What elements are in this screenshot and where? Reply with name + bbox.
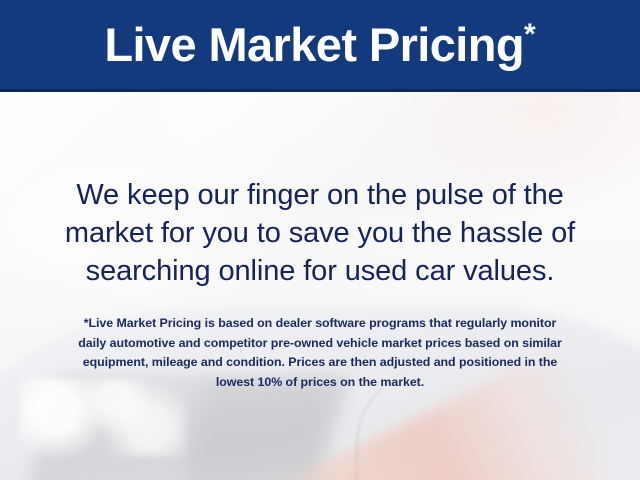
disclaimer-line-4: lowest 10% of prices on the market.	[26, 373, 614, 393]
disclaimer-line-2: daily automotive and competitor pre-owne…	[26, 334, 614, 354]
content-area: We keep our finger on the pulse of the m…	[0, 92, 640, 480]
headline: We keep our finger on the pulse of the m…	[0, 176, 640, 290]
disclaimer-text: *Live Market Pricing is based on dealer …	[0, 314, 640, 392]
page-title: Live Market Pricing*	[104, 20, 535, 70]
page-title-text: Live Market Pricing	[104, 18, 524, 71]
disclaimer-line-3: equipment, mileage and condition. Prices…	[26, 353, 614, 373]
headline-line-1: We keep our finger on the pulse of the	[0, 176, 640, 214]
page-title-asterisk: *	[524, 18, 536, 51]
header-bar: Live Market Pricing*	[0, 0, 640, 92]
headline-line-2: market for you to save you the hassle of	[0, 214, 640, 252]
disclaimer-line-1: *Live Market Pricing is based on dealer …	[26, 314, 614, 334]
live-market-pricing-banner: Live Market Pricing* We keep our finger …	[0, 0, 640, 480]
headline-line-3: searching online for used car values.	[0, 252, 640, 290]
